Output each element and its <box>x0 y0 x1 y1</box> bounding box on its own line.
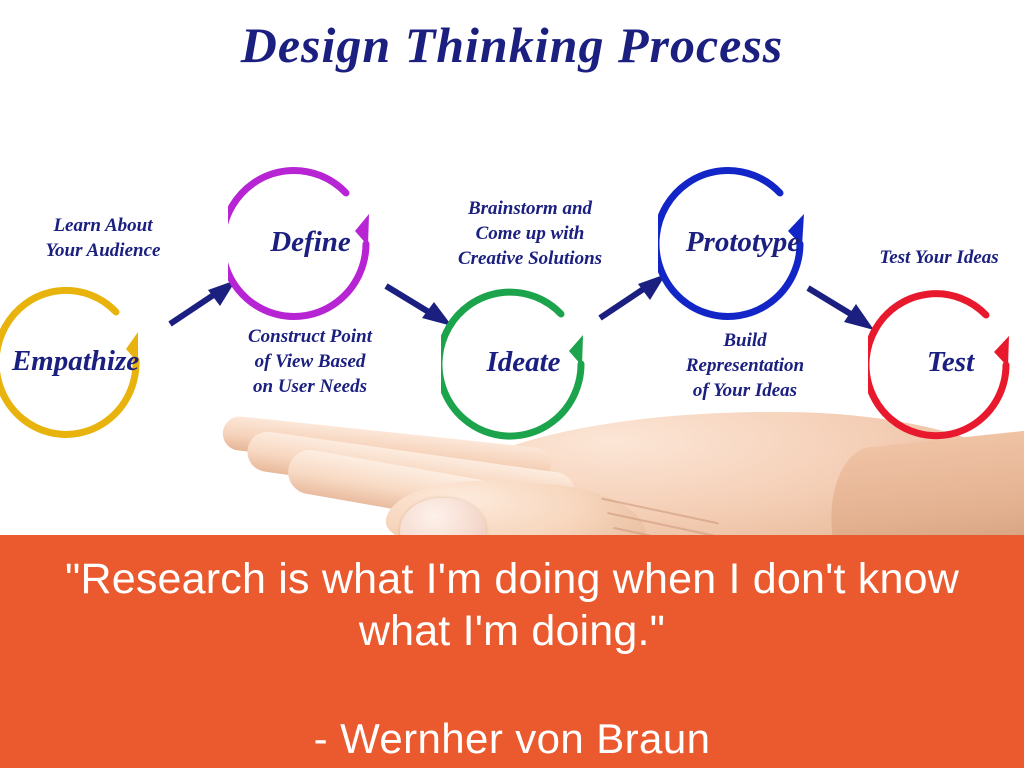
stage-caption-test: Test Your Ideas <box>844 245 1024 270</box>
quote-author: - Wernher von Braun <box>40 715 984 763</box>
page-title: Design Thinking Process <box>0 16 1024 74</box>
stage-circle-empathize[interactable]: Empathize <box>0 287 163 447</box>
stage-label-test: Test <box>868 346 1024 379</box>
stage-label-prototype: Prototype <box>658 226 828 259</box>
stage-label-define: Define <box>228 226 393 259</box>
quote-text: "Research is what I'm doing when I don't… <box>40 553 984 657</box>
stage-caption-define: Construct Point of View Based on User Ne… <box>200 324 420 399</box>
stage-circle-prototype[interactable]: Prototype <box>658 166 828 328</box>
slide-canvas: Design Thinking Process Empathize Learn … <box>0 0 1024 768</box>
stage-circle-define[interactable]: Define <box>228 166 393 328</box>
stage-circle-test[interactable]: Test <box>868 290 1024 448</box>
stage-caption-empathize: Learn About Your Audience <box>8 213 198 263</box>
stage-label-empathize: Empathize <box>0 345 163 378</box>
stage-circle-ideate[interactable]: Ideate <box>441 288 606 448</box>
stage-label-ideate: Ideate <box>441 346 606 379</box>
stage-caption-ideate: Brainstorm and Come up with Creative Sol… <box>412 196 648 271</box>
quote-band: "Research is what I'm doing when I don't… <box>0 535 1024 768</box>
stage-caption-prototype: Build Representation of Your Ideas <box>640 328 850 403</box>
